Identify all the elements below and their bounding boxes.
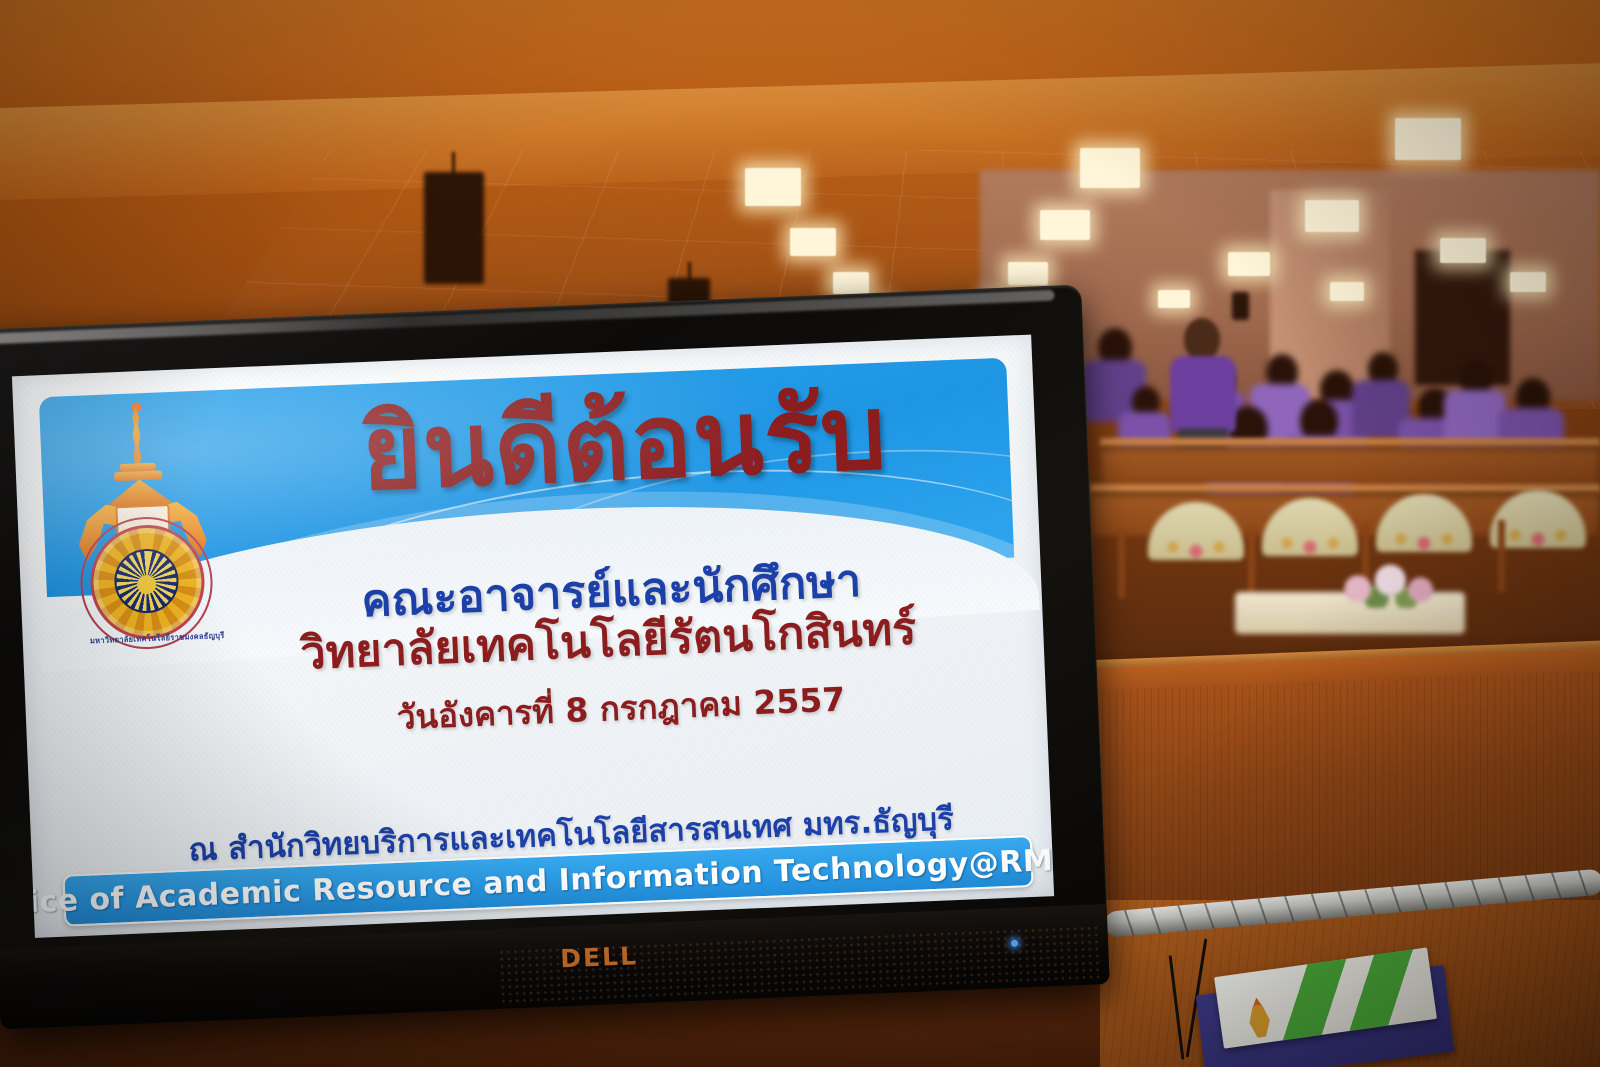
ceiling-speaker xyxy=(424,172,484,284)
ceiling-light-panel xyxy=(833,272,869,294)
ceiling-light-panel xyxy=(745,168,801,206)
chair-leg xyxy=(1248,528,1255,598)
chair-leg xyxy=(1118,530,1125,598)
slide-date: วันอังคารที่ 8 กรกฎาคม 2557 xyxy=(225,666,1017,751)
ceiling-light-panel xyxy=(1395,118,1461,160)
emblem-spire xyxy=(127,407,146,470)
ceiling-light-panel xyxy=(1510,272,1546,292)
ceiling-light-panel xyxy=(1080,148,1140,188)
ceiling-light-panel xyxy=(1008,262,1048,285)
ceiling-light-panel xyxy=(1305,200,1359,232)
photo-scene: มหาวิทยาลัยเทคโนโลยีราชมงคลธัญบุรี ยินดี… xyxy=(0,0,1600,1067)
monitor-screen[interactable]: มหาวิทยาลัยเทคโนโลยีราชมงคลธัญบุรี ยินดี… xyxy=(12,335,1054,938)
chair-leg xyxy=(1498,520,1505,592)
ceiling-light-panel xyxy=(1440,238,1486,263)
flower-arrangement xyxy=(1330,560,1446,608)
dell-monitor[interactable]: มหาวิทยาลัยเทคโนโลยีราชมงคลธัญบุรี ยินดี… xyxy=(0,284,1131,1067)
presenter-shirt xyxy=(1170,356,1236,432)
ceiling-light-panel xyxy=(790,228,836,256)
ceiling-light-panel xyxy=(1040,210,1090,240)
ceiling-light-panel xyxy=(1228,252,1270,276)
ceiling-light-panel xyxy=(1330,282,1364,301)
emblem-tier xyxy=(114,470,162,481)
bench-row xyxy=(1100,446,1600,484)
presentation-slide: มหาวิทยาลัยเทคโนโลยีราชมงคลธัญบุรี ยินดี… xyxy=(12,335,1054,938)
presenter-head xyxy=(1184,318,1220,360)
dell-logo: DELL xyxy=(560,939,691,974)
rmutt-emblem-icon: มหาวิทยาลัยเทคโนโลยีราชมงคลธัญบุรี xyxy=(67,404,215,606)
